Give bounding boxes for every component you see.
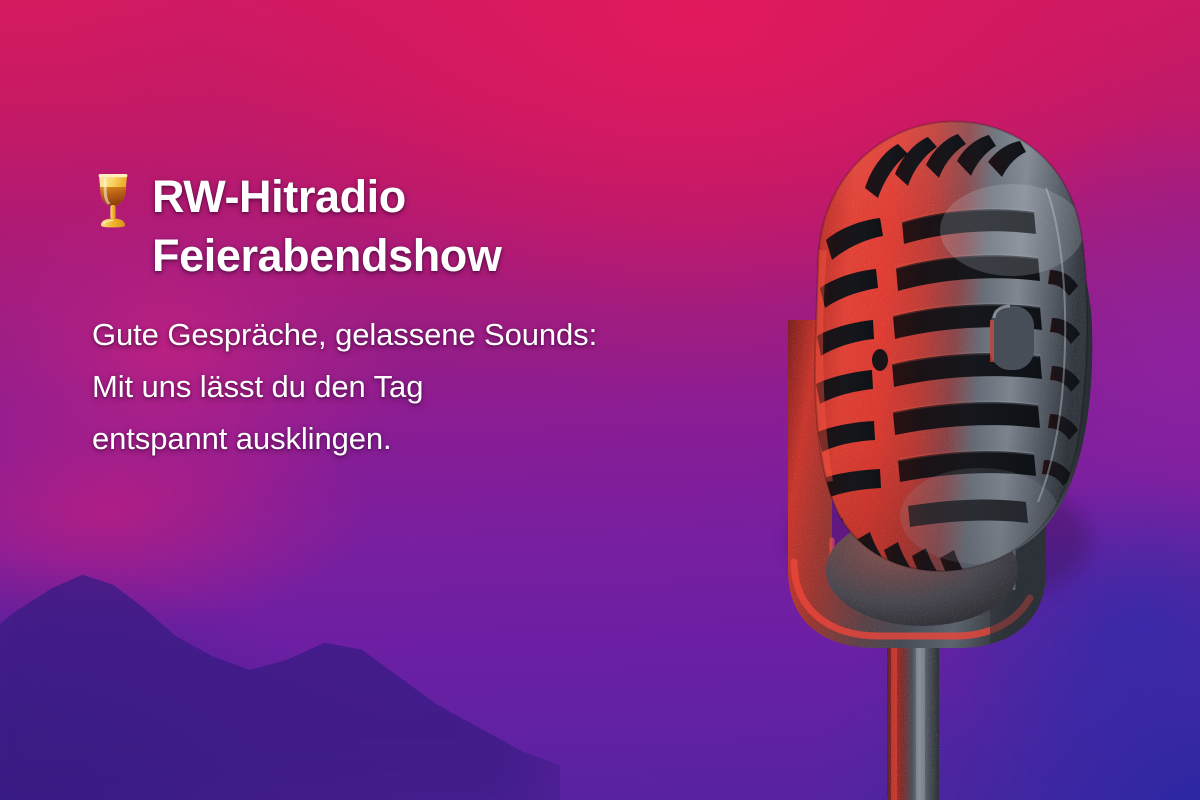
microphone-illustration [690,70,1120,800]
wine-glass-rim [99,174,128,177]
radio-show-banner: RW-Hitradio Feierabendshow Gute Gespräch… [0,0,1200,800]
page-title: RW-Hitradio Feierabendshow [152,168,501,285]
microphone-port-hole [872,349,888,371]
wine-glass-stem [110,205,115,219]
headline-row: RW-Hitradio Feierabendshow [92,168,672,285]
background-mountain-silhouette [0,500,560,800]
banner-subtitle: Gute Gespräche, gelassene Sounds: Mit un… [92,309,672,464]
microphone-pivot-knob [990,306,1034,370]
head-specular-highlight [940,184,1084,276]
wine-glass-icon [92,170,134,228]
banner-text-block: RW-Hitradio Feierabendshow Gute Gespräch… [92,168,672,464]
